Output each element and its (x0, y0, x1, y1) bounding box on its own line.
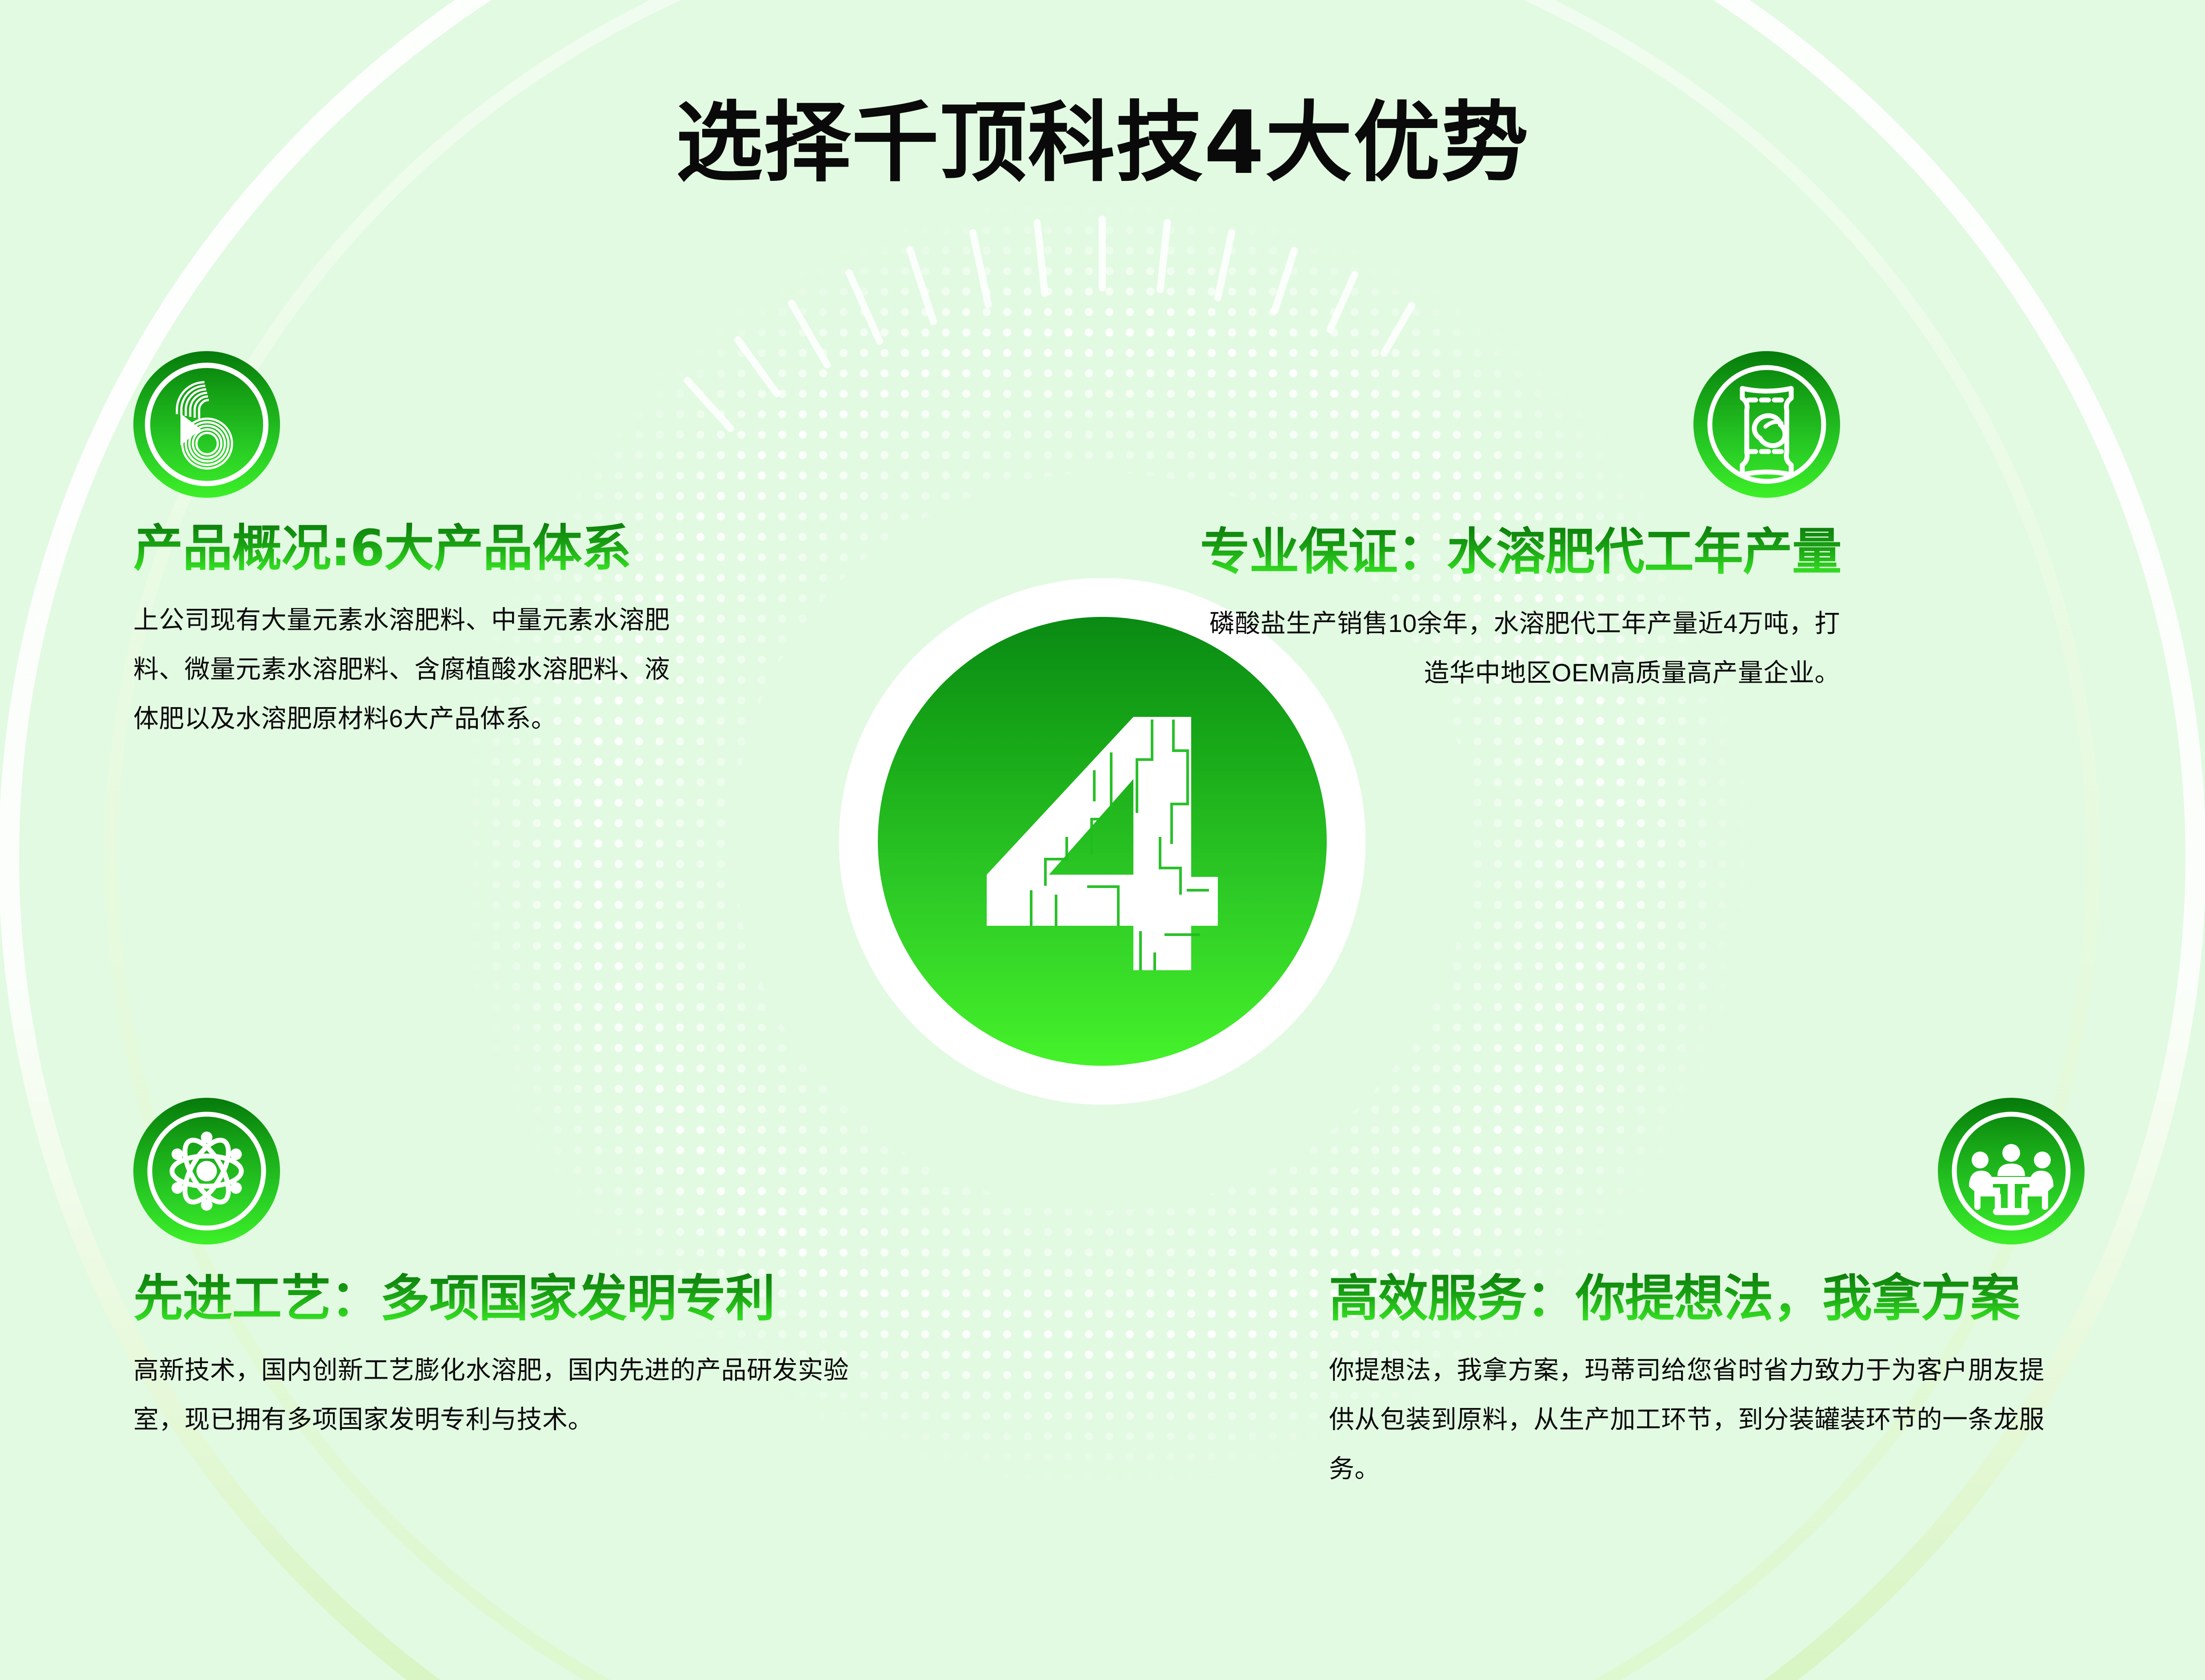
advantage-body-bottom-right: 你提想法，我拿方案，玛蒂司给您省时省力致力于为客户朋友提供从包装到原料，从生产加… (1329, 1346, 2067, 1494)
advantage-block-top-left: 产品概况:6大产品体系 上公司现有大量元素水溶肥料、中量元素水溶肥料、微量元素水… (133, 351, 773, 744)
advantage-heading-top-left: 产品概况:6大产品体系 (133, 520, 773, 578)
atom-icon-glyph (133, 1098, 280, 1244)
number-four-tech-glyph (978, 704, 1227, 979)
fertilizer-bag-icon-glyph (1693, 351, 1840, 498)
advantage-body-top-right: 磷酸盐生产销售10余年，水溶肥代工年产量近4万吨，打造华中地区OEM高质量高产量… (1200, 599, 1840, 698)
number-six-icon-glyph (133, 351, 280, 498)
advantage-block-bottom-left: 先进工艺：多项国家发明专利 高新技术，国内创新工艺膨化水溶肥，国内先进的产品研发… (133, 1098, 916, 1444)
advantage-block-top-right: 专业保证：水溶肥代工年产量近4万吨 磷酸盐生产销售10余年，水溶肥代工年产量近4… (1200, 351, 1840, 698)
infographic-canvas: 选择千顶科技4大优势 (0, 0, 2205, 1680)
meeting-people-icon (1938, 1098, 2085, 1244)
advantage-heading-top-right: 专业保证：水溶肥代工年产量近4万吨 (1200, 524, 1840, 581)
advantage-body-top-left: 上公司现有大量元素水溶肥料、中量元素水溶肥料、微量元素水溶肥料、含腐植酸水溶肥料… (133, 596, 680, 744)
advantage-block-bottom-right: 高效服务：你提想法，我拿方案 你提想法，我拿方案，玛蒂司给您省时省力致力于为客户… (1329, 1098, 2085, 1494)
advantage-body-bottom-left: 高新技术，国内创新工艺膨化水溶肥，国内先进的产品研发实验室，现已拥有多项国家发明… (133, 1346, 889, 1444)
atom-icon (133, 1098, 280, 1244)
fertilizer-bag-icon (1693, 351, 1840, 498)
advantage-heading-bottom-right: 高效服务：你提想法，我拿方案 (1329, 1270, 2085, 1328)
advantage-heading-bottom-left: 先进工艺：多项国家发明专利 (133, 1270, 916, 1328)
meeting-people-icon-glyph (1938, 1098, 2085, 1244)
page-title: 选择千顶科技4大优势 (0, 96, 2205, 192)
number-six-icon (133, 351, 280, 498)
